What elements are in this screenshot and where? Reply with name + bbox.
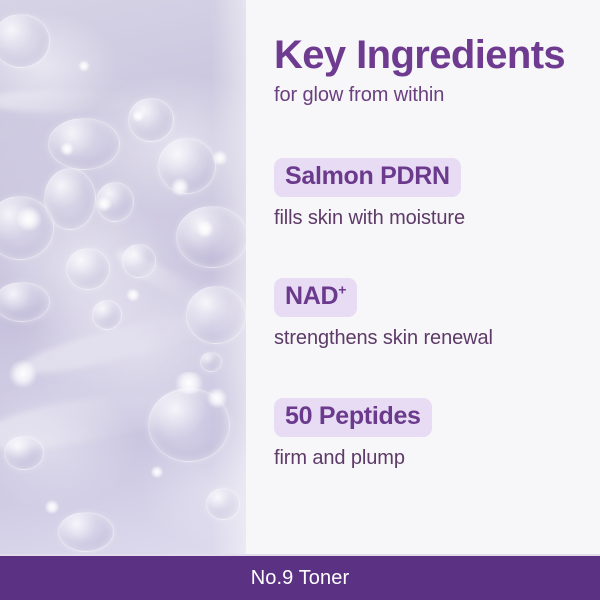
product-name-label: No.9 Toner: [251, 567, 349, 590]
ingredient-name: 50 Peptides: [285, 402, 421, 430]
content-panel: Key Ingredients for glow from within Sal…: [246, 0, 600, 556]
ingredient-description: strengthens skin renewal: [274, 327, 493, 350]
ingredient-item: 50 Peptides firm and plump: [274, 398, 432, 470]
ingredient-name-badge: NAD+: [274, 278, 357, 317]
footer-bar: No.9 Toner: [0, 556, 600, 600]
ingredient-name-badge: Salmon PDRN: [274, 158, 461, 197]
ingredient-description: firm and plump: [274, 447, 432, 470]
image-edge-fade: [0, 0, 246, 556]
ingredient-item: NAD+ strengthens skin renewal: [274, 278, 493, 350]
ingredient-name: NAD: [285, 282, 338, 310]
ingredient-name-badge: 50 Peptides: [274, 398, 432, 437]
gel-texture-image: [0, 0, 246, 556]
ingredient-name: Salmon PDRN: [285, 162, 450, 190]
page-subtitle: for glow from within: [274, 84, 444, 107]
page-title: Key Ingredients: [274, 34, 596, 76]
ingredient-item: Salmon PDRN fills skin with moisture: [274, 158, 465, 230]
ingredient-name-superscript: +: [338, 282, 346, 298]
ingredient-infographic-card: Key Ingredients for glow from within Sal…: [0, 0, 600, 600]
ingredient-description: fills skin with moisture: [274, 207, 465, 230]
